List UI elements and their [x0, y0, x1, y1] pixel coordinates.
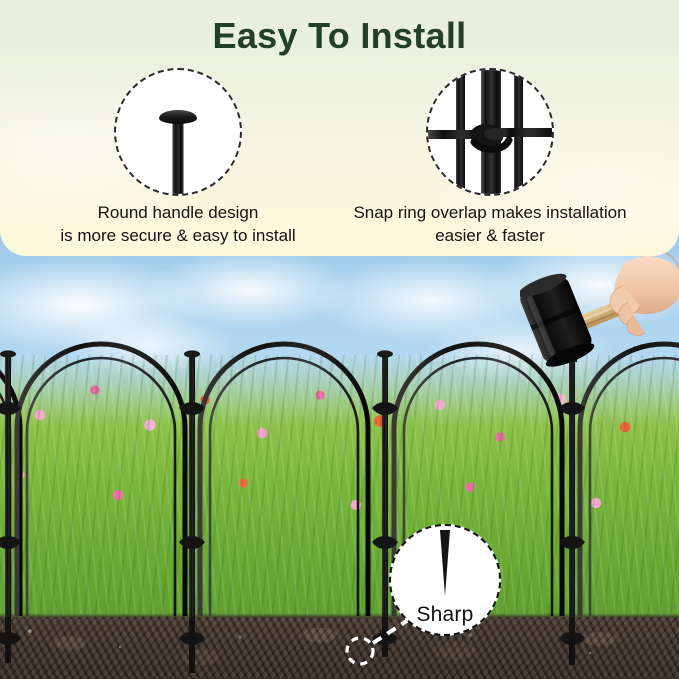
- round-handle-cap-icon: [159, 110, 197, 124]
- snap-ring-detail-disc: [426, 68, 554, 196]
- sharp-label: Sharp: [389, 603, 501, 627]
- handle-post-icon: [173, 118, 184, 196]
- snap-ring-icon: [428, 70, 552, 194]
- feature-caption: Round handle design is more secure & eas…: [28, 202, 328, 248]
- feature-round-handle: Round handle design is more secure & eas…: [28, 68, 328, 248]
- page-title: Easy To Install: [0, 15, 679, 57]
- wildflower-meadow: [0, 355, 679, 625]
- feature-snap-ring: Snap ring overlap makes installation eas…: [340, 68, 640, 248]
- easy-to-install-card: Easy To Install Round handle design is m…: [0, 0, 679, 256]
- feature-caption-line1: Snap ring overlap makes installation: [340, 202, 640, 225]
- sharp-spike-icon: [440, 530, 450, 596]
- hand: [610, 250, 679, 336]
- rubber-mallet-with-hand: [520, 250, 679, 370]
- connector-origin-circle: [347, 638, 373, 664]
- feature-caption: Snap ring overlap makes installation eas…: [340, 202, 640, 248]
- round-handle-detail-wrap: [114, 68, 242, 196]
- feature-caption-line2: is more secure & easy to install: [28, 225, 328, 248]
- feature-caption-line2: easier & faster: [340, 225, 640, 248]
- sharp-callout: Sharp: [389, 524, 501, 636]
- feature-caption-line1: Round handle design: [28, 202, 328, 225]
- round-handle-detail-disc: [114, 68, 242, 196]
- snap-ring-detail-wrap: [426, 68, 554, 196]
- product-infographic: Sharp Easy To Install Round handle desig…: [0, 0, 679, 679]
